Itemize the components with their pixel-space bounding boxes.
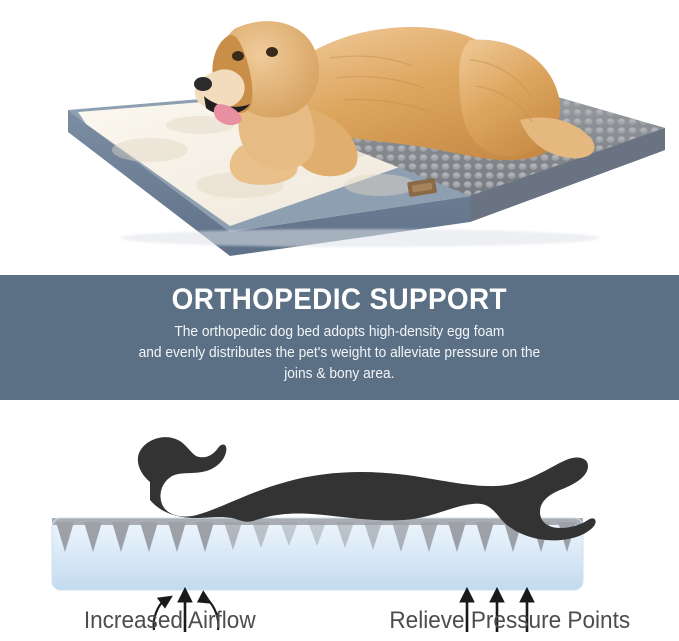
banner-line-1: The orthopedic dog bed adopts high-densi… xyxy=(139,322,541,343)
orthopedic-support-banner: ORTHOPEDIC SUPPORT The orthopedic dog be… xyxy=(0,275,679,400)
dog-eye-left xyxy=(232,51,244,61)
product-photo-section xyxy=(0,0,679,275)
banner-line-3: joins & bony area. xyxy=(139,364,541,385)
product-photo xyxy=(0,0,679,275)
caption-relieve-pressure-points: Relieve Pressure Points xyxy=(350,604,669,641)
banner-description: The orthopedic dog bed adopts high-densi… xyxy=(139,322,541,385)
product-infographic: ORTHOPEDIC SUPPORT The orthopedic dog be… xyxy=(0,0,679,641)
dog-nose xyxy=(194,77,212,91)
banner-line-2: and evenly distributes the pet's weight … xyxy=(139,343,541,364)
foam-slab xyxy=(52,518,583,590)
banner-title: ORTHOPEDIC SUPPORT xyxy=(172,283,507,316)
dog-eye-right xyxy=(266,47,278,57)
diagram-captions: Increased Airflow Relieve Pressure Point… xyxy=(0,604,679,641)
caption-increased-airflow: Increased Airflow xyxy=(10,604,329,641)
